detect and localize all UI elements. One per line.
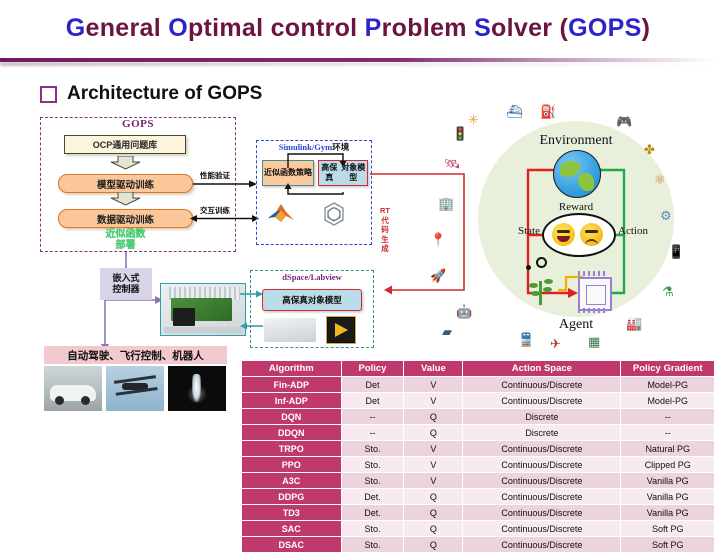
cell-act: Continuous/Discrete [463, 537, 621, 553]
sad-face-icon [580, 223, 603, 246]
page-title-text: General Optimal control Problem Solver (… [0, 14, 716, 43]
embedded-label-line-1: 嵌入式 [112, 273, 139, 284]
table-row: PPOSto.VContinuous/DiscreteClipped PG [242, 457, 715, 473]
model-driven-training-box[interactable]: 模型驱动训练 [58, 174, 193, 193]
action-label: Action [618, 225, 648, 237]
train-icon: 🚆 [518, 333, 534, 346]
table-row: TD3Det.QContinuous/DiscreteVanilla PG [242, 505, 715, 521]
cell-algorithm: PPO [242, 457, 342, 473]
housing-base [164, 327, 241, 333]
humanoid-robot-image [168, 366, 226, 411]
autonomous-car-image [44, 366, 102, 411]
cell-act: Continuous/Discrete [463, 441, 621, 457]
deploy-line-1: 近似函数 [106, 229, 146, 240]
cell-act: Continuous/Discrete [463, 457, 621, 473]
cell-act: Continuous/Discrete [463, 521, 621, 537]
data-driven-training-box[interactable]: 数据驱动训练 [58, 209, 193, 228]
title-rule-shadow [0, 62, 716, 66]
globe-icon [553, 150, 601, 198]
cell-algorithm: DDPG [242, 489, 342, 505]
cell-algorithm: DSAC [242, 537, 342, 553]
cell-algorithm: DDQN [242, 425, 342, 441]
cell-pg: -- [621, 409, 715, 425]
labview-logo-icon [326, 316, 356, 344]
cell-val: V [404, 393, 463, 409]
simulink-internal-loop-arrows-icon [262, 150, 372, 196]
agent-label: Agent [478, 317, 674, 333]
cell-pol: Det [341, 377, 404, 393]
cell-pol: Sto. [341, 537, 404, 553]
cell-pol: Sto. [341, 473, 404, 489]
high-fidelity-plant-box-dspace[interactable]: 高保真对象模型 [262, 289, 362, 311]
rl-loop-illustration: Environment Agent Reward State Action ✳ … [430, 105, 716, 357]
server-icon: 🏢 [438, 197, 454, 210]
rover-icon: 🛰 [444, 157, 461, 170]
cell-pol: Sto. [341, 457, 404, 473]
cell-algorithm: TD3 [242, 505, 342, 521]
cell-pol: Det. [341, 489, 404, 505]
cell-val: Q [404, 505, 463, 521]
factory-icon: 🏭 [626, 317, 642, 330]
cell-act: Discrete [463, 409, 621, 425]
network-icon: ⚙ [660, 209, 672, 222]
phone-icon: 📱 [668, 245, 684, 258]
table-row: DSACSto.QContinuous/DiscreteSoft PG [242, 537, 715, 553]
cell-algorithm: Fin-ADP [242, 377, 342, 393]
chip-icon: ▦ [588, 335, 600, 348]
col-header-policy-gradient: Policy Gradient [621, 361, 715, 377]
cell-val: V [404, 473, 463, 489]
dspace-hardware-icon [264, 318, 316, 342]
cell-pg: Vanilla PG [621, 505, 715, 521]
performance-validation-arrow-icon [193, 180, 259, 188]
cell-act: Continuous/Discrete [463, 393, 621, 409]
approx-function-deploy-label: 近似函数 部署 [58, 229, 193, 251]
cell-act: Continuous/Discrete [463, 489, 621, 505]
embedded-label-line-2: 控制器 [112, 284, 139, 295]
cell-val: Q [404, 489, 463, 505]
down-arrow-icon-1 [110, 156, 141, 170]
happy-face-icon [552, 223, 575, 246]
cell-pg: Natural PG [621, 441, 715, 457]
table-row: Inf-ADPDetVContinuous/DiscreteModel-PG [242, 393, 715, 409]
cell-pg: Model-PG [621, 393, 715, 409]
col-header-action-space: Action Space [463, 361, 621, 377]
col-header-algorithm: Algorithm [242, 361, 342, 377]
table-row: A3CSto.VContinuous/DiscreteVanilla PG [242, 473, 715, 489]
cell-pol: -- [341, 409, 404, 425]
cell-pg: Soft PG [621, 521, 715, 537]
gym-logo-icon [318, 200, 350, 228]
cell-act: Continuous/Discrete [463, 505, 621, 521]
airplane-icon: ✈ [550, 337, 561, 350]
table-header-row: Algorithm Policy Value Action Space Poli… [242, 361, 715, 377]
cell-pol: Det [341, 393, 404, 409]
cell-algorithm: A3C [242, 473, 342, 489]
cell-pg: Vanilla PG [621, 473, 715, 489]
cell-pg: Soft PG [621, 537, 715, 553]
cell-val: V [404, 441, 463, 457]
cell-act: Continuous/Discrete [463, 377, 621, 393]
chip-pins-bottom [578, 308, 608, 313]
drone-icon: ✤ [644, 143, 655, 156]
chip-pins-top [578, 271, 608, 276]
cell-algorithm: SAC [242, 521, 342, 537]
cell-pol: Sto. [341, 521, 404, 537]
section-heading-label: Architecture of GOPS [67, 83, 262, 105]
col-header-policy: Policy [341, 361, 404, 377]
cell-pg: Vanilla PG [621, 489, 715, 505]
table-row: DDQN--QDiscrete-- [242, 425, 715, 441]
square-bullet-icon [40, 86, 57, 103]
ai-chip-icon [578, 277, 612, 311]
col-header-value: Value [404, 361, 463, 377]
cell-val: Q [404, 537, 463, 553]
embedded-controller-label: 嵌入式 控制器 [100, 268, 152, 300]
connector-block [173, 308, 195, 325]
table-row: Fin-ADPDetVContinuous/DiscreteModel-PG [242, 377, 715, 393]
cell-pg: -- [621, 425, 715, 441]
rocket-icon: 🚀 [430, 269, 446, 282]
cell-pg: Model-PG [621, 377, 715, 393]
applications-images [44, 366, 227, 411]
cell-act: Discrete [463, 425, 621, 441]
cell-pol: Sto. [341, 441, 404, 457]
ocp-library-box[interactable]: OCP通用问题库 [64, 135, 186, 154]
gops-container-label: GOPS [40, 118, 236, 130]
table-row: SACSto.QContinuous/DiscreteSoft PG [242, 521, 715, 537]
cell-algorithm: DQN [242, 409, 342, 425]
matlab-logo-icon [266, 200, 296, 226]
applications-banner: 自动驾驶、飞行控制、机器人 [44, 346, 227, 364]
cell-algorithm: TRPO [242, 441, 342, 457]
dspace-labview-label: dSpace/Labview [250, 272, 374, 282]
molecule-icon: ⚛ [654, 173, 666, 186]
traffic-light-icon: 🚦 [452, 127, 468, 140]
down-arrow-icon-2 [110, 192, 141, 206]
cell-val: Q [404, 409, 463, 425]
cell-pg: Clipped PG [621, 457, 715, 473]
neural-plant-icon [526, 273, 556, 305]
gamepad-icon: 🎮 [616, 115, 632, 128]
embedded-controller-image [160, 283, 246, 336]
cell-act: Continuous/Discrete [463, 473, 621, 489]
table-row: DQN--QDiscrete-- [242, 409, 715, 425]
rt-codegen-label: RT代码生成 [378, 206, 392, 254]
algorithm-table: Algorithm Policy Value Action Space Poli… [241, 360, 715, 553]
flask-icon: ⚗ [662, 285, 674, 298]
cell-val: Q [404, 521, 463, 537]
cell-pol: -- [341, 425, 404, 441]
cube-icon: ▰ [442, 325, 452, 338]
ship-icon: ⛴ [506, 105, 523, 118]
sunburst-icon: ✳ [468, 113, 479, 126]
drone-image [106, 366, 164, 411]
table-row: TRPOSto.VContinuous/DiscreteNatural PG [242, 441, 715, 457]
cell-val: Q [404, 425, 463, 441]
reward-label: Reward [478, 201, 674, 213]
map-pin-icon: 📍 [430, 233, 446, 246]
cell-val: V [404, 457, 463, 473]
robot-icon: 🤖 [456, 305, 472, 318]
cell-algorithm: Inf-ADP [242, 393, 342, 409]
page-title: General Optimal control Problem Solver (… [0, 14, 716, 43]
interactive-training-arrow-icon [190, 214, 260, 223]
deploy-line-2: 部署 [116, 240, 136, 251]
slide-root: General Optimal control Problem Solver (… [0, 0, 716, 537]
cell-pol: Det. [341, 505, 404, 521]
oil-rig-icon: ⛽ [540, 105, 556, 118]
section-heading: Architecture of GOPS [40, 83, 262, 105]
cloud-bubble-dot-large [536, 257, 547, 268]
table-row: DDPGDet.QContinuous/DiscreteVanilla PG [242, 489, 715, 505]
cell-val: V [404, 377, 463, 393]
cloud-bubble-dot-small [526, 265, 531, 270]
state-label: State [518, 225, 540, 237]
